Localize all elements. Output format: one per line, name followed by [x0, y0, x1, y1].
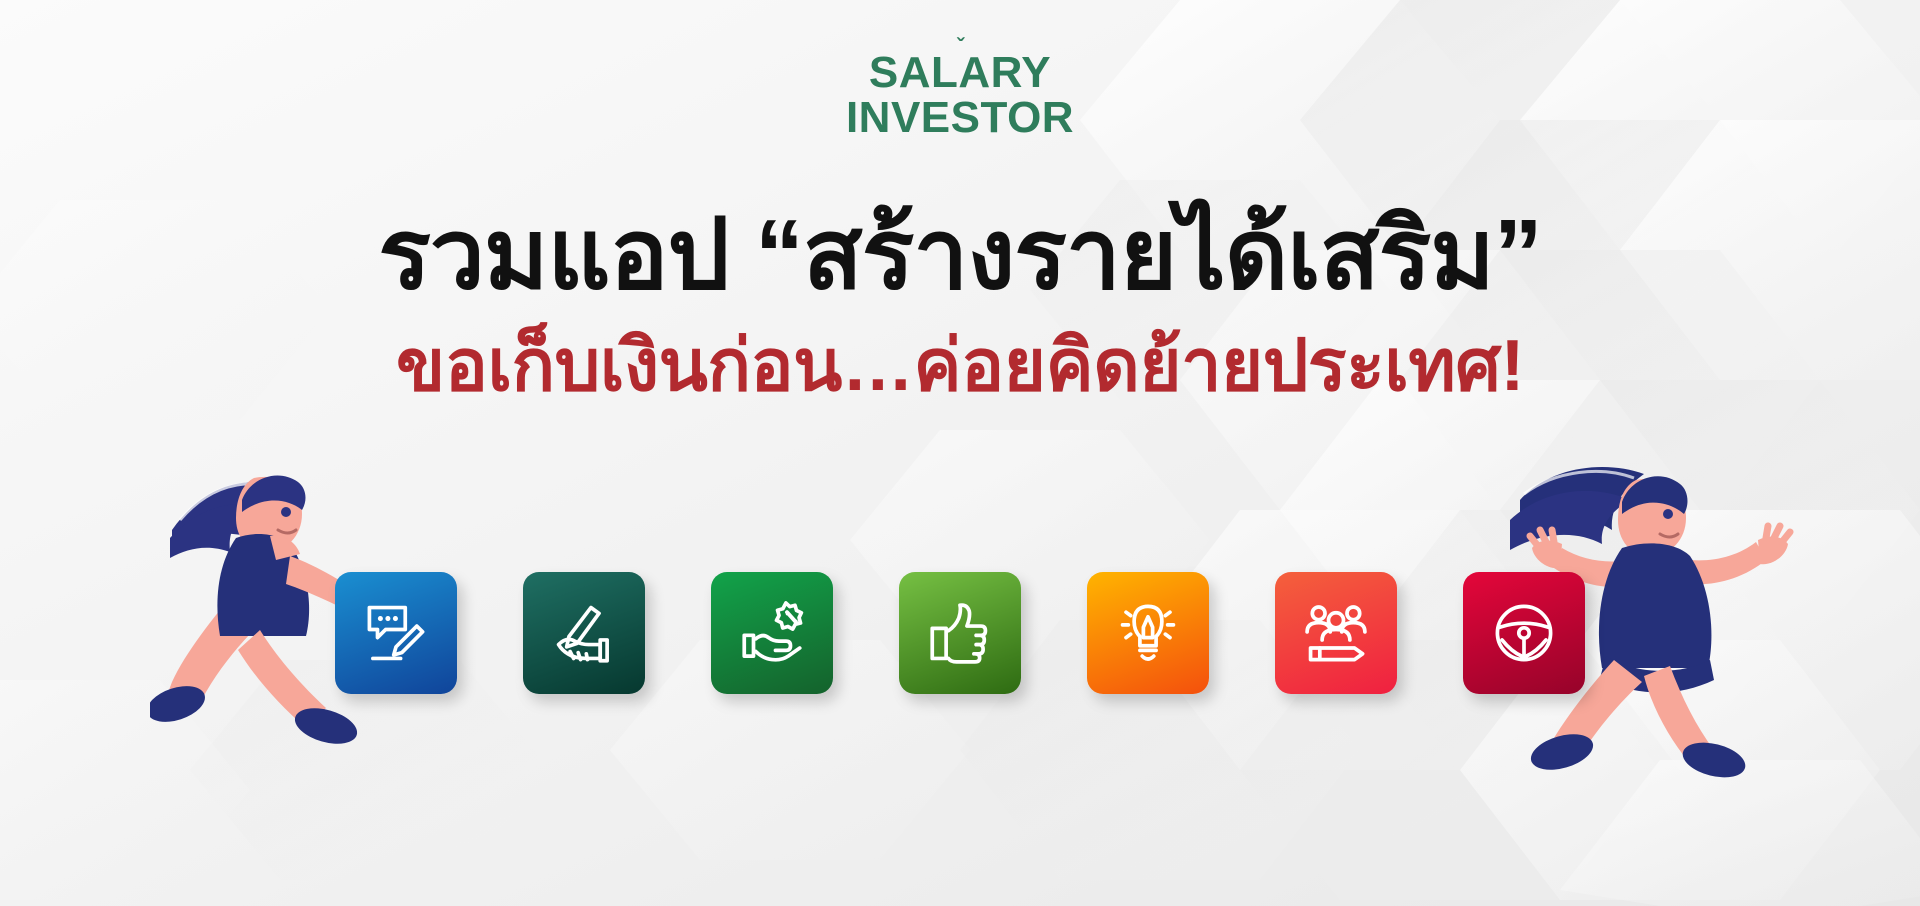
logo-line-salary: ˇ SALARY	[869, 52, 1051, 93]
hand-writing-pen-icon	[547, 596, 621, 670]
app-category-tiles	[0, 572, 1920, 694]
hand-percent-badge-icon	[735, 596, 809, 670]
promo-banner: ˇ SALARY INVESTOR รวมแอป “สร้างรายได้เสร…	[0, 0, 1920, 906]
logo-line-investor: INVESTOR	[846, 97, 1074, 138]
logo-s-with-caron: ˇ SALARY	[869, 52, 1051, 93]
tile-ideas[interactable]	[1087, 572, 1209, 694]
tile-cashback[interactable]	[711, 572, 833, 694]
people-pencil-icon	[1299, 596, 1373, 670]
headline-block: รวมแอป “สร้างรายได้เสริม” ขอเก็บเงินก่อน…	[0, 200, 1920, 409]
caron-accent-icon: ˇ	[957, 36, 965, 58]
lightbulb-pencil-icon	[1111, 596, 1185, 670]
tile-survey[interactable]	[335, 572, 457, 694]
headline-line-2: ขอเก็บเงินก่อน…ค่อยคิดย้ายประเทศ!	[0, 324, 1920, 409]
headline-line-1: รวมแอป “สร้างรายได้เสริม”	[0, 200, 1920, 310]
tile-like[interactable]	[899, 572, 1021, 694]
tile-referral[interactable]	[1275, 572, 1397, 694]
steering-wheel-icon	[1487, 596, 1561, 670]
brand-logo: ˇ SALARY INVESTOR	[0, 52, 1920, 139]
tile-driving[interactable]	[1463, 572, 1585, 694]
tile-writing[interactable]	[523, 572, 645, 694]
chat-bubble-pencil-icon	[359, 596, 433, 670]
logo-investor-text: INVESTOR	[846, 97, 1074, 138]
thumbs-up-icon	[923, 596, 997, 670]
